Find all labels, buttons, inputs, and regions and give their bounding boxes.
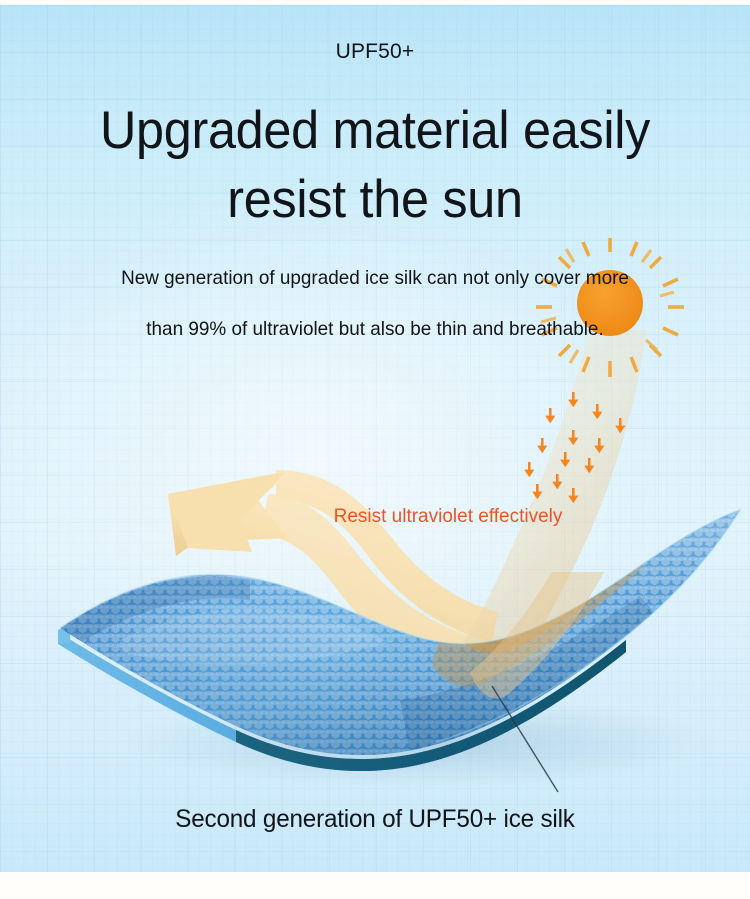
body-line-1: New generation of upgraded ice silk can …	[11, 253, 739, 304]
poster-canvas: UPF50+ Upgraded material easily resist t…	[0, 0, 750, 899]
page-title: Upgraded material easily resist the sun	[19, 97, 732, 235]
body-line-2: than 99% of ultraviolet but also be thin…	[11, 304, 739, 355]
headline-line-1: Upgraded material easily	[19, 97, 732, 166]
bottom-white-band	[0, 872, 750, 899]
upf-eyebrow-label: UPF50+	[0, 40, 750, 64]
resist-uv-label: Resist ultraviolet effectively	[0, 506, 750, 528]
headline-line-2: resist the sun	[19, 166, 732, 235]
fabric-caption: Second generation of UPF50+ ice silk	[11, 805, 739, 834]
body-copy: New generation of upgraded ice silk can …	[11, 253, 739, 355]
